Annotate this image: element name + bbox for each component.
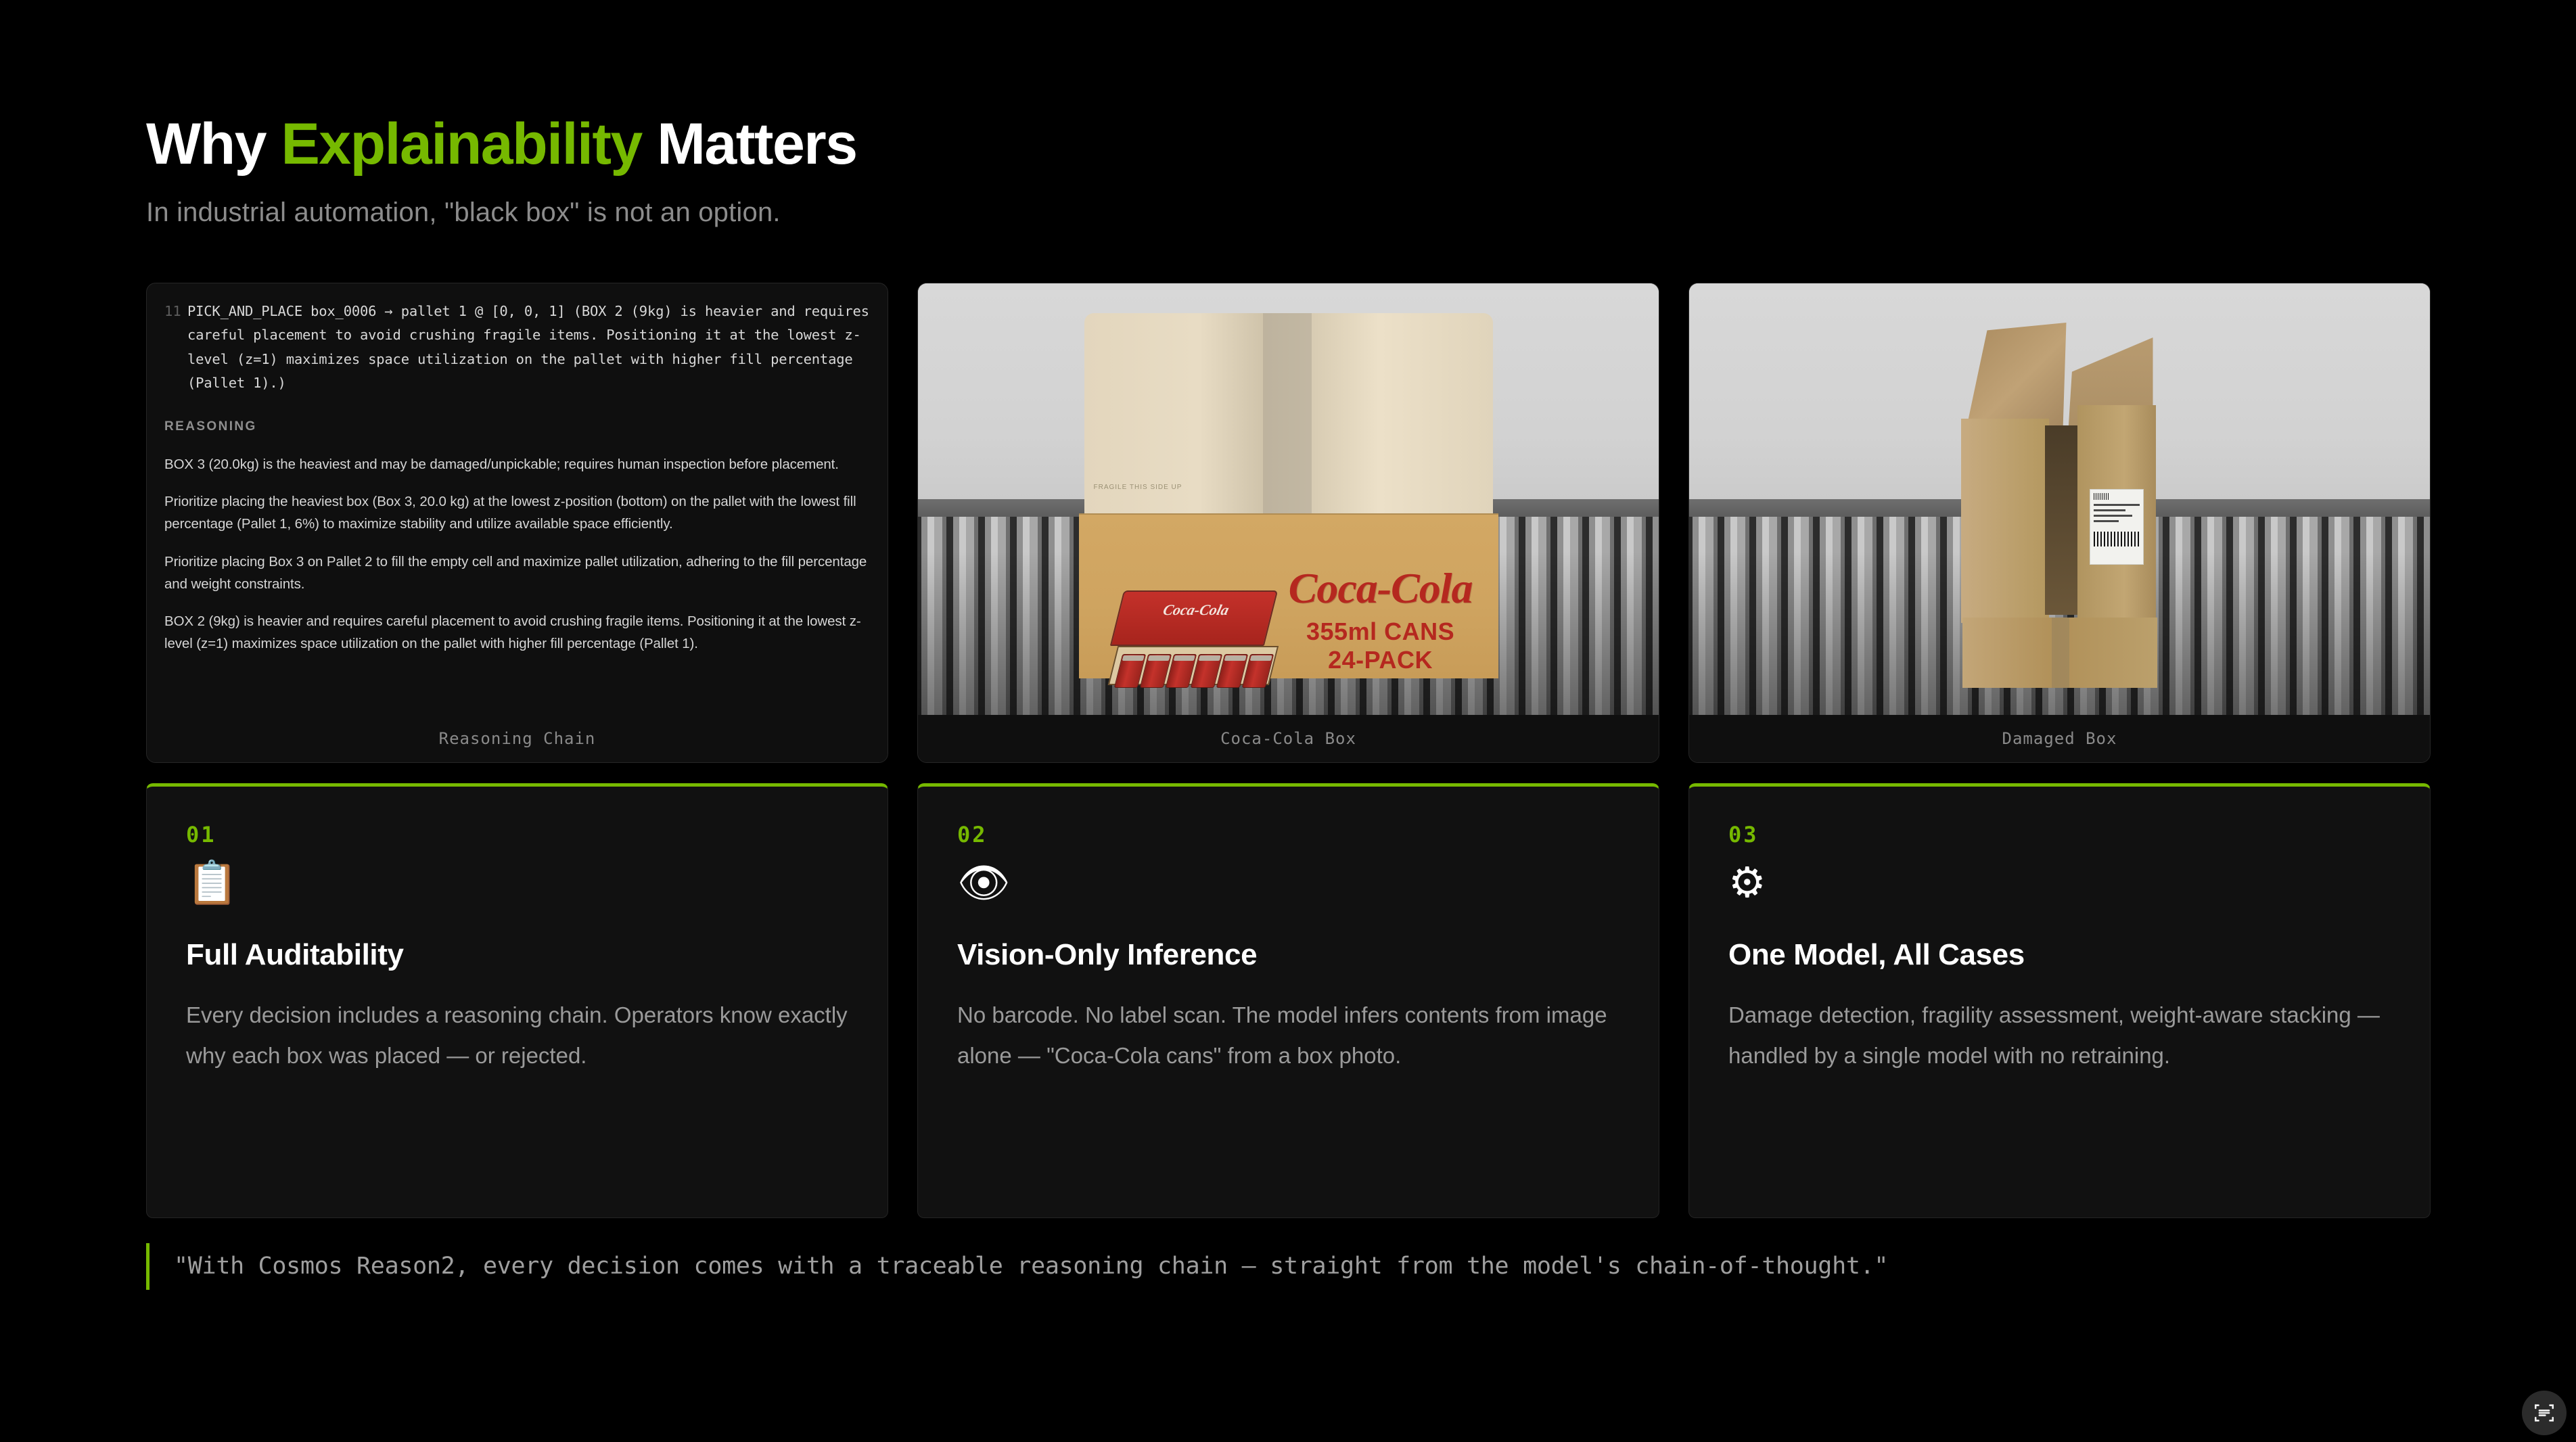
box-wall-left — [1961, 419, 2049, 623]
feature-card-full-auditability[interactable]: 01 📋 Full Auditability Every decision in… — [146, 783, 888, 1218]
cans-row — [1113, 654, 1273, 688]
box-tape — [1263, 313, 1312, 516]
coca-cola-box-panel: FRAGILE THIS SIDE UP Coca-Cola — [917, 283, 1659, 763]
card-number: 02 — [957, 822, 1619, 847]
label-line — [2094, 515, 2133, 517]
gear-icon: ⚙ — [1728, 862, 2391, 910]
panel-caption: Damaged Box — [1689, 715, 2430, 762]
label-text-lines — [2094, 504, 2140, 522]
card-title: Vision-Only Inference — [957, 938, 1619, 972]
box-line-2: 24-PACK — [1289, 646, 1473, 674]
feature-card-vision-only-inference[interactable]: 02 👁 Vision-Only Inference No barcode. N… — [917, 783, 1659, 1218]
damaged-box-panel: Damaged Box — [1688, 283, 2431, 763]
eye-icon: 👁 — [957, 862, 1619, 910]
clipboard-icon: 📋 — [186, 862, 848, 910]
reasoning-section-label: REASONING — [164, 419, 870, 434]
box-line-1: 355ml CANS — [1289, 618, 1473, 646]
tray-wrap: Coca-Cola — [1109, 590, 1277, 646]
reasoning-item: Prioritize placing the heaviest box (Box… — [164, 490, 870, 535]
reasoning-item: BOX 3 (20.0kg) is the heaviest and may b… — [164, 453, 870, 475]
card-description: No barcode. No label scan. The model inf… — [957, 995, 1619, 1076]
brand-wordmark: Coca-Cola — [1289, 563, 1473, 613]
page-title-part1: Why — [146, 112, 281, 177]
card-description: Every decision includes a reasoning chai… — [186, 995, 848, 1076]
barcode-icon — [2094, 532, 2140, 546]
panel-row: 11 PICK_AND_PLACE box_0006 → pallet 1 @ … — [146, 283, 2431, 763]
box-base — [1962, 618, 2157, 688]
feature-card-one-model-all-cases[interactable]: 03 ⚙ One Model, All Cases Damage detecti… — [1688, 783, 2431, 1218]
box-small-print: FRAGILE THIS SIDE UP — [1094, 484, 1182, 491]
scan-text-button[interactable] — [2522, 1391, 2567, 1435]
scan-text-icon — [2533, 1401, 2556, 1424]
reasoning-chain-panel: 11 PICK_AND_PLACE box_0006 → pallet 1 @ … — [146, 283, 888, 763]
card-title: Full Auditability — [186, 938, 848, 972]
code-line: 11 PICK_AND_PLACE box_0006 → pallet 1 @ … — [164, 300, 870, 395]
card-number: 03 — [1728, 822, 2391, 847]
box-front-face: Coca-Cola Coca-Cola 355ml — [1079, 513, 1498, 678]
damaged-cardboard-box — [1958, 323, 2161, 688]
page-title: Why Explainability Matters — [146, 114, 857, 175]
reasoning-list: BOX 3 (20.0kg) is the heaviest and may b… — [164, 453, 870, 655]
label-line — [2094, 509, 2126, 511]
page-title-accent: Explainability — [281, 112, 641, 177]
barcode-icon — [2094, 493, 2109, 500]
pull-quote: "With Cosmos Reason2, every decision com… — [146, 1243, 2431, 1290]
shipping-label — [2090, 489, 2144, 565]
feature-cards-row: 01 📋 Full Auditability Every decision in… — [146, 783, 2431, 1218]
coca-cola-logo-block: Coca-Cola 355ml CANS 24-PACK — [1289, 563, 1473, 674]
code-line-text: PICK_AND_PLACE box_0006 → pallet 1 @ [0,… — [187, 300, 870, 395]
panel-caption: Reasoning Chain — [147, 715, 888, 762]
reasoning-body: 11 PICK_AND_PLACE box_0006 → pallet 1 @ … — [147, 283, 888, 715]
can-tray-graphic: Coca-Cola — [1109, 584, 1278, 685]
panel-caption: Coca-Cola Box — [918, 715, 1659, 762]
card-number: 01 — [186, 822, 848, 847]
label-line — [2094, 520, 2119, 522]
code-line-number: 11 — [164, 300, 187, 395]
page-title-part2: Matters — [642, 112, 857, 177]
reasoning-item: Prioritize placing Box 3 on Pallet 2 to … — [164, 551, 870, 595]
label-line — [2094, 504, 2140, 506]
reasoning-item: BOX 2 (9kg) is heavier and requires care… — [164, 610, 870, 655]
card-title: One Model, All Cases — [1728, 938, 2391, 972]
page-subtitle: In industrial automation, "black box" is… — [146, 197, 857, 228]
tray-label: Coca-Cola — [1118, 601, 1273, 619]
conveyor-scene: FRAGILE THIS SIDE UP Coca-Cola — [918, 283, 1659, 715]
card-description: Damage detection, fragility assessment, … — [1728, 995, 2391, 1076]
cardboard-box: FRAGILE THIS SIDE UP Coca-Cola — [1079, 313, 1498, 678]
conveyor-scene — [1689, 283, 2430, 715]
page-header: Why Explainability Matters In industrial… — [146, 114, 857, 228]
